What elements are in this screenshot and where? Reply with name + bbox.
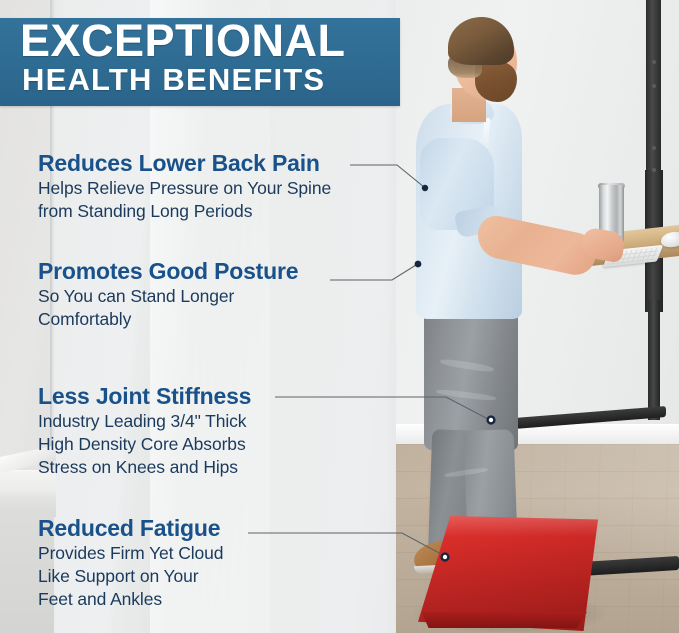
person-pants	[424, 300, 518, 450]
benefit-line: Stress on Knees and Hips	[38, 457, 251, 478]
benefit-line: Helps Relieve Pressure on Your Spine	[38, 178, 331, 199]
header-banner: EXCEPTIONAL HEALTH BENEFITS	[0, 18, 400, 106]
desk-bolt-icon	[652, 146, 656, 150]
benefit-block-reduces-lower-back-pain: Reduces Lower Back Pain Helps Relieve Pr…	[38, 150, 331, 222]
benefit-line: Industry Leading 3/4" Thick	[38, 411, 251, 432]
benefit-title: Less Joint Stiffness	[38, 383, 251, 409]
benefit-line: Provides Firm Yet Cloud	[38, 543, 223, 564]
infographic-canvas: EXCEPTIONAL HEALTH BENEFITS Reduces Lowe…	[0, 0, 679, 633]
benefit-title: Reduces Lower Back Pain	[38, 150, 331, 176]
benefit-title: Promotes Good Posture	[38, 258, 298, 284]
desk-bolt-icon	[652, 84, 656, 88]
benefit-line: Feet and Ankles	[38, 589, 223, 610]
benefit-line: Like Support on Your	[38, 566, 223, 587]
benefit-line: from Standing Long Periods	[38, 201, 331, 222]
product-photo	[396, 0, 679, 633]
mat-front-edge	[418, 612, 594, 628]
benefit-block-reduced-fatigue: Reduced Fatigue Provides Firm Yet Cloud …	[38, 515, 223, 610]
benefit-line: Comfortably	[38, 309, 298, 330]
benefit-block-promotes-good-posture: Promotes Good Posture So You can Stand L…	[38, 258, 298, 330]
banner-title-line2: HEALTH BENEFITS	[22, 62, 325, 98]
desk-bolt-icon	[652, 168, 656, 172]
benefit-title: Reduced Fatigue	[38, 515, 223, 541]
banner-title-line1: EXCEPTIONAL	[20, 16, 346, 66]
desk-upright-lower	[648, 300, 660, 420]
benefit-block-less-joint-stiffness: Less Joint Stiffness Industry Leading 3/…	[38, 383, 251, 478]
benefit-line: High Density Core Absorbs	[38, 434, 251, 455]
desk-bolt-icon	[652, 60, 656, 64]
benefit-line: So You can Stand Longer	[38, 286, 298, 307]
